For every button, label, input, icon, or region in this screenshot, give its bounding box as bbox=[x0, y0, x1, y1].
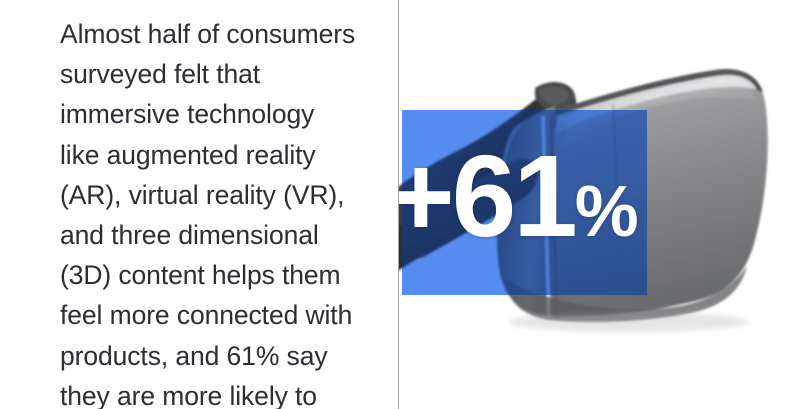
infographic-stat-card: Almost half of consumers surveyed felt t… bbox=[0, 0, 800, 409]
stat-paragraph: Almost half of consumers surveyed felt t… bbox=[60, 14, 358, 409]
stat-value: +61% bbox=[399, 131, 667, 261]
stat-value-number: +61 bbox=[399, 131, 575, 261]
text-panel: Almost half of consumers surveyed felt t… bbox=[0, 0, 398, 409]
stat-value-unit: % bbox=[575, 172, 638, 252]
stat-paragraph-text: Almost half of consumers surveyed felt t… bbox=[60, 19, 355, 409]
media-panel: +61% bbox=[399, 0, 800, 409]
